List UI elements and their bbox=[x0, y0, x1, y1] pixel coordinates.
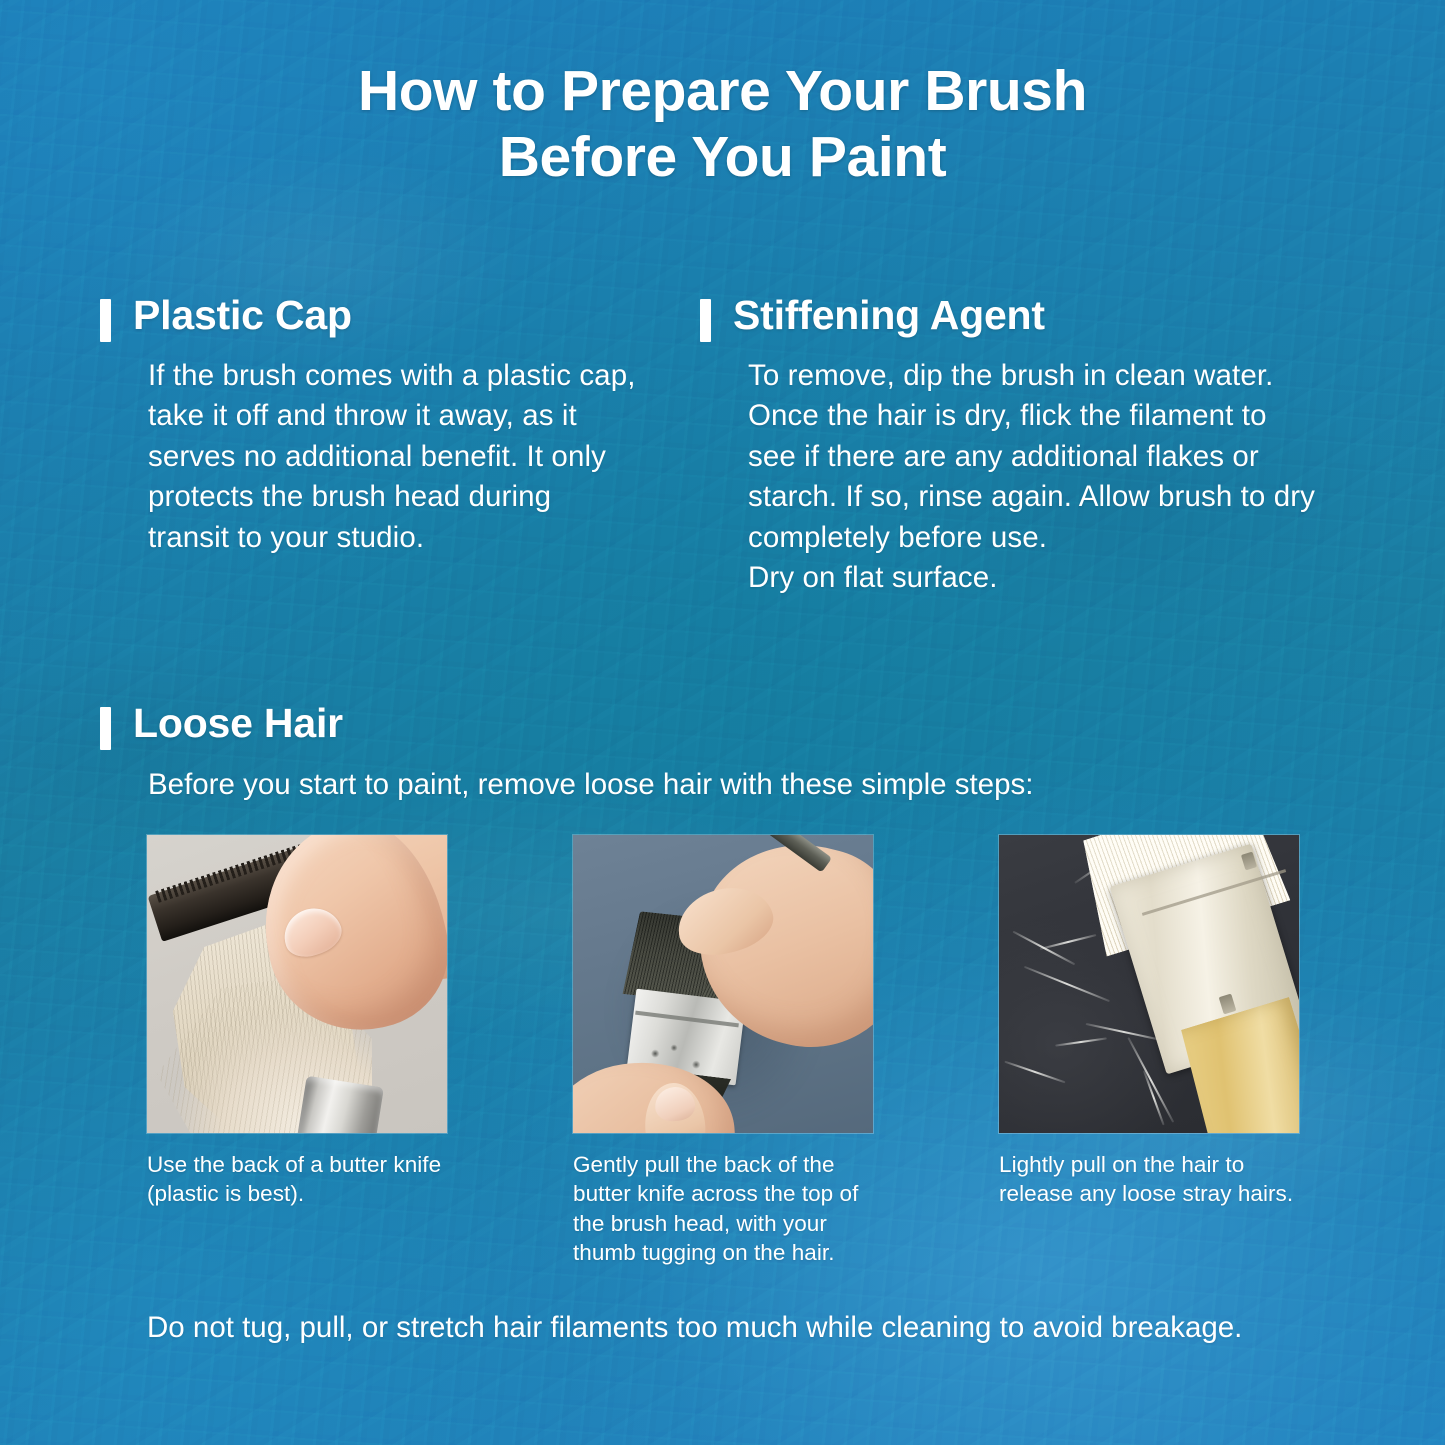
accent-bar-icon bbox=[100, 299, 111, 342]
section-stiffening-agent-body: To remove, dip the brush in clean water.… bbox=[748, 356, 1320, 598]
step-3-caption: Lightly pull on the hair to release any … bbox=[999, 1150, 1299, 1209]
section-plastic-cap-header: Plastic Cap bbox=[100, 295, 640, 342]
page-title: How to Prepare Your Brush Before You Pai… bbox=[0, 58, 1445, 190]
steps-photo-row: Use the back of a butter knife (plastic … bbox=[147, 835, 1297, 1290]
step-2-photo bbox=[573, 835, 873, 1133]
accent-bar-icon bbox=[700, 299, 711, 342]
title-line-1: How to Prepare Your Brush bbox=[120, 58, 1325, 124]
section-plastic-cap-heading: Plastic Cap bbox=[133, 295, 352, 337]
infographic-poster: How to Prepare Your Brush Before You Pai… bbox=[0, 0, 1445, 1445]
step-1-caption: Use the back of a butter knife (plastic … bbox=[147, 1150, 447, 1209]
section-plastic-cap: Plastic Cap If the brush comes with a pl… bbox=[100, 295, 640, 588]
step-1: Use the back of a butter knife (plastic … bbox=[147, 835, 447, 1290]
section-loose-hair: Loose Hair Before you start to paint, re… bbox=[100, 703, 1330, 834]
section-plastic-cap-body: If the brush comes with a plastic cap, t… bbox=[148, 356, 640, 558]
section-loose-hair-subtitle: Before you start to paint, remove loose … bbox=[148, 766, 1330, 804]
section-stiffening-agent-header: Stiffening Agent bbox=[700, 295, 1320, 342]
step-2-caption: Gently pull the back of the butter knife… bbox=[573, 1150, 873, 1267]
section-stiffening-agent-heading: Stiffening Agent bbox=[733, 295, 1045, 337]
step-1-photo bbox=[147, 835, 447, 1133]
footer-note: Do not tug, pull, or stretch hair filame… bbox=[147, 1308, 1297, 1347]
section-loose-hair-header: Loose Hair bbox=[100, 703, 1330, 750]
step-3-photo bbox=[999, 835, 1299, 1133]
section-loose-hair-heading: Loose Hair bbox=[133, 703, 343, 745]
accent-bar-icon bbox=[100, 707, 111, 750]
step-3: Lightly pull on the hair to release any … bbox=[999, 835, 1299, 1290]
title-line-2: Before You Paint bbox=[120, 124, 1325, 190]
section-stiffening-agent: Stiffening Agent To remove, dip the brus… bbox=[700, 295, 1320, 628]
step-2: Gently pull the back of the butter knife… bbox=[573, 835, 873, 1290]
